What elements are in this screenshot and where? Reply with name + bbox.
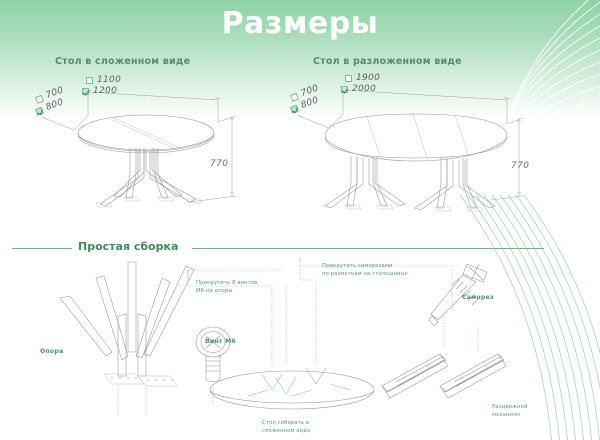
label-bolt: Винт М6 xyxy=(205,338,236,345)
note-bolts: Прикрутить 8 винтов М6 на опоры xyxy=(196,280,257,295)
divider-line-left xyxy=(12,248,72,249)
section-heading-folded: Стол в сложенном виде xyxy=(55,56,190,67)
option-value: 1900 xyxy=(356,73,380,83)
note-line: Прикрутить 8 винтов xyxy=(196,280,257,288)
note-line: механизм xyxy=(492,412,527,420)
note-line: Стол собирать в xyxy=(262,420,310,428)
section-heading-unfolded: Стол в разложенном виде xyxy=(313,56,462,67)
folded-width-options: 700 800 xyxy=(36,95,65,115)
note-assemble-folded: Стол собирать в сложенном виде xyxy=(262,420,310,435)
note-line: сложенном виде xyxy=(262,428,310,436)
label-support: Опора xyxy=(40,348,63,355)
folded-length-option-1[interactable]: 1200 xyxy=(82,86,117,96)
option-value: 1100 xyxy=(97,75,121,85)
option-value: 2000 xyxy=(352,84,376,94)
note-mechanism: Раздвижной механизм xyxy=(492,404,527,419)
folded-table-drawing xyxy=(40,78,270,213)
checkbox-icon xyxy=(35,94,44,103)
note-line: М6 на опоры xyxy=(196,288,257,296)
checkbox-icon xyxy=(86,77,93,84)
folded-height-dimension: 770 xyxy=(210,159,228,169)
checkbox-icon xyxy=(290,92,299,101)
unfolded-length-option-0[interactable]: 1900 xyxy=(345,73,380,83)
option-value: 1200 xyxy=(93,86,117,96)
unfolded-table-drawing xyxy=(295,78,540,213)
label-screw: Саморез xyxy=(462,294,494,301)
infographic-page: Размеры Стол в сложенном виде Стол в раз… xyxy=(0,0,600,440)
unfolded-length-option-1[interactable]: 2000 xyxy=(341,84,376,94)
divider-line-right xyxy=(192,248,544,249)
assembly-diagram xyxy=(0,256,545,440)
unfolded-length-options: 1900 2000 xyxy=(345,73,380,93)
checkbox-checked-icon xyxy=(341,86,348,93)
assembly-divider: Простая сборка xyxy=(0,240,600,256)
folded-length-options: 1100 1200 xyxy=(86,75,121,95)
note-line: по разметкам на столешнице xyxy=(322,271,408,279)
checkbox-checked-icon xyxy=(290,104,299,113)
checkbox-checked-icon xyxy=(82,88,89,95)
unfolded-height-dimension: 770 xyxy=(511,161,529,171)
note-line: Раздвижной xyxy=(492,404,527,412)
checkbox-checked-icon xyxy=(35,106,44,115)
page-title: Размеры xyxy=(0,6,600,41)
checkbox-icon xyxy=(345,75,352,82)
assembly-title: Простая сборка xyxy=(78,240,178,253)
unfolded-width-options: 700 800 xyxy=(291,93,320,113)
folded-length-option-0[interactable]: 1100 xyxy=(86,75,121,85)
note-line: Прикрутить саморезами xyxy=(322,263,408,271)
note-screws: Прикрутить саморезами по разметкам на ст… xyxy=(322,263,408,278)
